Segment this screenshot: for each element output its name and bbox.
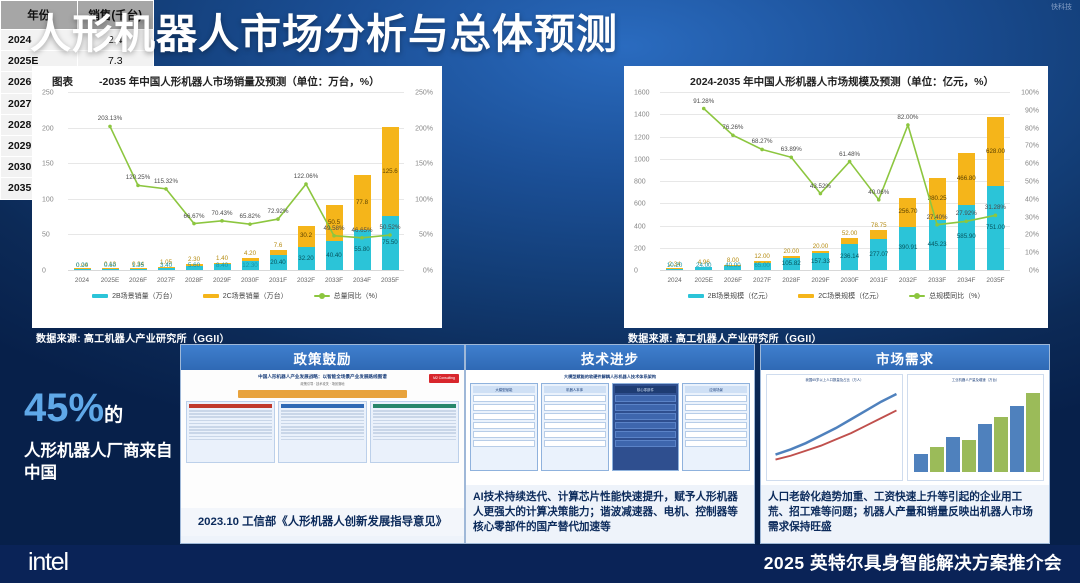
- x-axis-labels: 20242025E2026F2027F2028F2029F2030F2031F2…: [68, 277, 404, 284]
- line-point-label: 27.92%: [956, 210, 977, 217]
- policy-doc-columns: [186, 401, 459, 463]
- legend-swatch: [203, 294, 219, 298]
- x-axis-tick: 2033F: [923, 277, 952, 284]
- line-point-label: 122.06%: [294, 173, 318, 180]
- right-chart-source: 数据来源: 高工机器人产业研究所（GGII）: [628, 330, 822, 345]
- y-axis-tick: 1600: [634, 90, 650, 97]
- mini-chart-aging-population: 我国65岁以上人口数量及占比（万人）: [766, 374, 903, 481]
- line-point-label: 50.52%: [380, 224, 401, 231]
- x-axis-labels: 20242025E2026F2027F2028F2029F2030F2031F2…: [660, 277, 1010, 284]
- diagram-box: 机器人本体: [541, 383, 609, 471]
- legend-item[interactable]: 2B场景销量（万台）: [92, 291, 177, 301]
- legend-swatch: [92, 294, 108, 298]
- diagram-box: 核心零部件: [612, 383, 680, 471]
- x-axis-tick: 2028F: [180, 277, 208, 284]
- policy-doc-column: [370, 401, 459, 463]
- left-chart-legend: 2B场景销量（万台）2C场景销量（万台）总量同比（%）: [38, 291, 436, 301]
- line-point-label: 49.58%: [324, 225, 345, 232]
- card-technology-header: 技术进步: [466, 345, 754, 370]
- technology-architecture-diagram: 大模型赋能的软硬件解耦人形机器人技术体系架构 大模型赋能 机器人本体 核心零部件…: [466, 370, 754, 485]
- right-chart-plot: 020040060080010001200140016000%10%20%30%…: [630, 93, 1042, 271]
- line-point-label: 46.65%: [352, 227, 373, 234]
- right-chart-header: 2024-2035 年中国人形机器人市场规模及预测（单位：亿元，%）: [630, 70, 1042, 91]
- right-chart-title: 2024-2035 年中国人形机器人市场规模及预测（单位：亿元，%）: [690, 74, 994, 89]
- card-policy-header: 政策鼓励: [181, 345, 464, 370]
- mini-chart-left-title: 我国65岁以上人口数量及占比（万人）: [769, 377, 900, 382]
- footer-event-title: 2025 英特尔具身智能解决方案推介会: [764, 550, 1062, 575]
- legend-item[interactable]: 总规模同比（%）: [909, 291, 984, 301]
- aging-population-line: [773, 389, 899, 465]
- line-point-label: 76.26%: [722, 124, 743, 131]
- y2-axis-tick: 60%: [1025, 161, 1039, 168]
- y-axis-tick: 100: [42, 196, 54, 203]
- policy-doc-title: 中国人形机器人产业发展战略：以智能全场景产业发展路线图谱: [186, 374, 459, 380]
- card-policy-footer: 2023.10 工信部《人形机器人创新发展指导意见》: [181, 508, 464, 536]
- y-axis-tick: 50: [42, 232, 50, 239]
- y-axis-tick: 1200: [634, 134, 650, 141]
- growth-rate-line: [660, 93, 1010, 271]
- legend-item[interactable]: 2C场景规模（亿元）: [798, 291, 883, 301]
- x-axis-tick: 2031F: [264, 277, 292, 284]
- y2-axis-tick: 100%: [415, 196, 433, 203]
- y2-axis-tick: 80%: [1025, 125, 1039, 132]
- demand-mini-charts: 我国65岁以上人口数量及占比（万人） 工业机器人产量及增速（万台）: [761, 370, 1049, 485]
- technology-diagram-title: 大模型赋能的软硬件解耦人形机器人技术体系架构: [470, 374, 750, 380]
- x-axis-tick: 2030F: [835, 277, 864, 284]
- stat-value: 45%的: [24, 388, 174, 428]
- legend-label: 2C场景规模（亿元）: [818, 291, 883, 301]
- legend-swatch: [798, 294, 814, 298]
- x-axis-tick: 2027F: [152, 277, 180, 284]
- legend-item[interactable]: 2C场景销量（万台）: [203, 291, 288, 301]
- left-chart-label: 图表: [52, 74, 73, 89]
- stat-description: 人形机器人厂商来自中国: [24, 440, 174, 485]
- mini-chart-right-title: 工业机器人产量及增速（万台）: [910, 377, 1041, 382]
- policy-doc-subtitle: 政策引导 · 技术攻关 · 场景落地: [186, 381, 459, 386]
- y-axis-tick: 150: [42, 161, 54, 168]
- card-demand-footer: 人口老龄化趋势加重、工资快速上升等引起的企业用工荒、招工难等问题；机器人产量和销…: [761, 485, 1049, 540]
- x-axis-tick: 2029F: [208, 277, 236, 284]
- legend-swatch: [909, 295, 925, 297]
- y-axis-tick: 1400: [634, 112, 650, 119]
- intel-logo: intel: [28, 548, 68, 577]
- legend-item[interactable]: 总量同比（%）: [314, 291, 382, 301]
- y-axis-tick: 200: [634, 245, 646, 252]
- slide-root: 人形机器人市场分析与总体预测 图表 -2035 年中国人形机器人市场销量及预测（…: [0, 0, 1080, 583]
- mini-chart-robot-output: 工业机器人产量及增速（万台）: [907, 374, 1044, 481]
- y2-axis-tick: 30%: [1025, 214, 1039, 221]
- line-point-label: 82.00%: [897, 114, 918, 121]
- policy-document-thumbnail: 中国人形机器人产业发展战略：以智能全场景产业发展路线图谱 政策引导 · 技术攻关…: [181, 370, 464, 508]
- card-demand-body: 我国65岁以上人口数量及占比（万人） 工业机器人产量及增速（万台）: [761, 370, 1049, 485]
- right-chart-legend: 2B场景规模（亿元）2C场景规模（亿元）总规模同比（%）: [630, 291, 1042, 301]
- y2-axis-tick: 200%: [415, 125, 433, 132]
- x-axis-tick: 2034F: [952, 277, 981, 284]
- y-axis-tick: 200: [42, 125, 54, 132]
- card-technology-body: 大模型赋能的软硬件解耦人形机器人技术体系架构 大模型赋能 机器人本体 核心零部件…: [466, 370, 754, 485]
- x-axis-tick: 2025E: [689, 277, 718, 284]
- legend-label: 总规模同比（%）: [929, 291, 984, 301]
- left-chart-header: 图表 -2035 年中国人形机器人市场销量及预测（单位：万台，%）: [38, 70, 436, 91]
- x-axis-tick: 2028F: [777, 277, 806, 284]
- y-axis-tick: 400: [634, 223, 646, 230]
- line-point-label: 61.48%: [839, 151, 860, 158]
- policy-doc-column: [278, 401, 367, 463]
- x-axis-tick: 2026F: [718, 277, 747, 284]
- line-point-label: 66.67%: [184, 213, 205, 220]
- card-demand-header: 市场需求: [761, 345, 1049, 370]
- line-point-label: 40.06%: [868, 189, 889, 196]
- line-point-label: 203.13%: [98, 115, 122, 122]
- card-policy-body: 中国人形机器人产业发展战略：以智能全场景产业发展路线图谱 政策引导 · 技术攻关…: [181, 370, 464, 508]
- y2-axis-tick: 70%: [1025, 143, 1039, 150]
- left-chart-source: 数据来源: 高工机器人产业研究所（GGII）: [36, 330, 230, 345]
- x-axis-tick: 2034F: [348, 277, 376, 284]
- card-technology-footer: AI技术持续迭代、计算芯片性能快速提升，赋予人形机器人更强大的计算决策能力；谐波…: [466, 485, 754, 540]
- x-axis-tick: 2024: [660, 277, 689, 284]
- y2-axis-tick: 40%: [1025, 196, 1039, 203]
- y-axis-tick: 800: [634, 179, 646, 186]
- y2-axis-tick: 250%: [415, 90, 433, 97]
- x-axis-tick: 2027F: [748, 277, 777, 284]
- watermark: 快科技: [1051, 2, 1072, 12]
- robot-output-bars: [914, 389, 1040, 472]
- legend-label: 2C场景销量（万台）: [223, 291, 288, 301]
- y-axis-tick: 1000: [634, 156, 650, 163]
- stat-suffix: 的: [104, 405, 123, 426]
- y2-axis-tick: 90%: [1025, 107, 1039, 114]
- legend-swatch: [314, 295, 330, 297]
- legend-label: 2B场景规模（亿元）: [708, 291, 773, 301]
- y-axis-tick: 600: [634, 201, 646, 208]
- legend-label: 2B场景销量（万台）: [112, 291, 177, 301]
- line-point-label: 27.40%: [927, 214, 948, 221]
- y2-axis-tick: 20%: [1025, 232, 1039, 239]
- y-axis-tick: 0: [634, 268, 638, 275]
- y2-axis-tick: 10%: [1025, 250, 1039, 257]
- chart-sales-volume: 图表 -2035 年中国人形机器人市场销量及预测（单位：万台，%） 050100…: [32, 66, 442, 328]
- y2-axis-tick: 100%: [1021, 90, 1039, 97]
- stat-number: 45%: [24, 386, 104, 430]
- y2-axis-tick: 50%: [1025, 179, 1039, 186]
- card-policy[interactable]: 政策鼓励 中国人形机器人产业发展战略：以智能全场景产业发展路线图谱 政策引导 ·…: [180, 344, 465, 544]
- technology-diagram-row: 大模型赋能 机器人本体 核心零部件 应用场景: [470, 383, 750, 471]
- line-point-label: 63.89%: [781, 146, 802, 153]
- card-demand[interactable]: 市场需求 我国65岁以上人口数量及占比（万人） 工业机器人产量及增速（万台）: [760, 344, 1050, 544]
- chart-market-size: 2024-2035 年中国人形机器人市场规模及预测（单位：亿元，%） 02004…: [624, 66, 1048, 328]
- x-axis-tick: 2029F: [806, 277, 835, 284]
- x-axis-tick: 2026F: [124, 277, 152, 284]
- diagram-box: 大模型赋能: [470, 383, 538, 471]
- x-axis-tick: 2032F: [292, 277, 320, 284]
- x-axis-tick: 2035F: [376, 277, 404, 284]
- y-axis-tick: 0: [42, 268, 46, 275]
- y2-axis-tick: 0%: [423, 268, 433, 275]
- diagram-box: 应用场景: [682, 383, 750, 471]
- line-point-label: 120.25%: [126, 174, 150, 181]
- y2-axis-tick: 0%: [1029, 268, 1039, 275]
- line-point-label: 115.32%: [154, 178, 178, 185]
- card-technology[interactable]: 技术进步 大模型赋能的软硬件解耦人形机器人技术体系架构 大模型赋能 机器人本体 …: [465, 344, 755, 544]
- stat-block: 45%的 人形机器人厂商来自中国: [24, 388, 174, 485]
- x-axis-tick: 2025E: [96, 277, 124, 284]
- legend-item[interactable]: 2B场景规模（亿元）: [688, 291, 773, 301]
- policy-doc-band: [238, 390, 407, 398]
- left-chart-plot: 0501001502002500%50%100%150%200%250%0.04…: [38, 93, 436, 271]
- x-axis-tick: 2035F: [981, 277, 1010, 284]
- line-point-label: 43.52%: [810, 183, 831, 190]
- line-point-label: 70.43%: [212, 210, 233, 217]
- page-title: 人形机器人市场分析与总体预测: [30, 10, 618, 59]
- x-axis-tick: 2024: [68, 277, 96, 284]
- line-point-label: 68.27%: [752, 138, 773, 145]
- y2-axis-tick: 50%: [419, 232, 433, 239]
- legend-swatch: [688, 294, 704, 298]
- line-point-label: 72.92%: [268, 208, 289, 215]
- m2-consulting-logo: [429, 374, 459, 383]
- line-point-label: 91.28%: [693, 98, 714, 105]
- legend-label: 总量同比（%）: [334, 291, 382, 301]
- policy-doc-column: [186, 401, 275, 463]
- x-axis-tick: 2032F: [893, 277, 922, 284]
- y-axis-tick: 250: [42, 90, 54, 97]
- line-point-label: 65.82%: [240, 213, 261, 220]
- line-point-label: 31.28%: [985, 204, 1006, 211]
- x-axis-tick: 2031F: [864, 277, 893, 284]
- x-axis-tick: 2030F: [236, 277, 264, 284]
- footer-bar: intel 2025 英特尔具身智能解决方案推介会: [0, 545, 1080, 583]
- left-chart-title: -2035 年中国人形机器人市场销量及预测（单位：万台，%）: [99, 74, 380, 89]
- y2-axis-tick: 150%: [415, 161, 433, 168]
- x-axis-tick: 2033F: [320, 277, 348, 284]
